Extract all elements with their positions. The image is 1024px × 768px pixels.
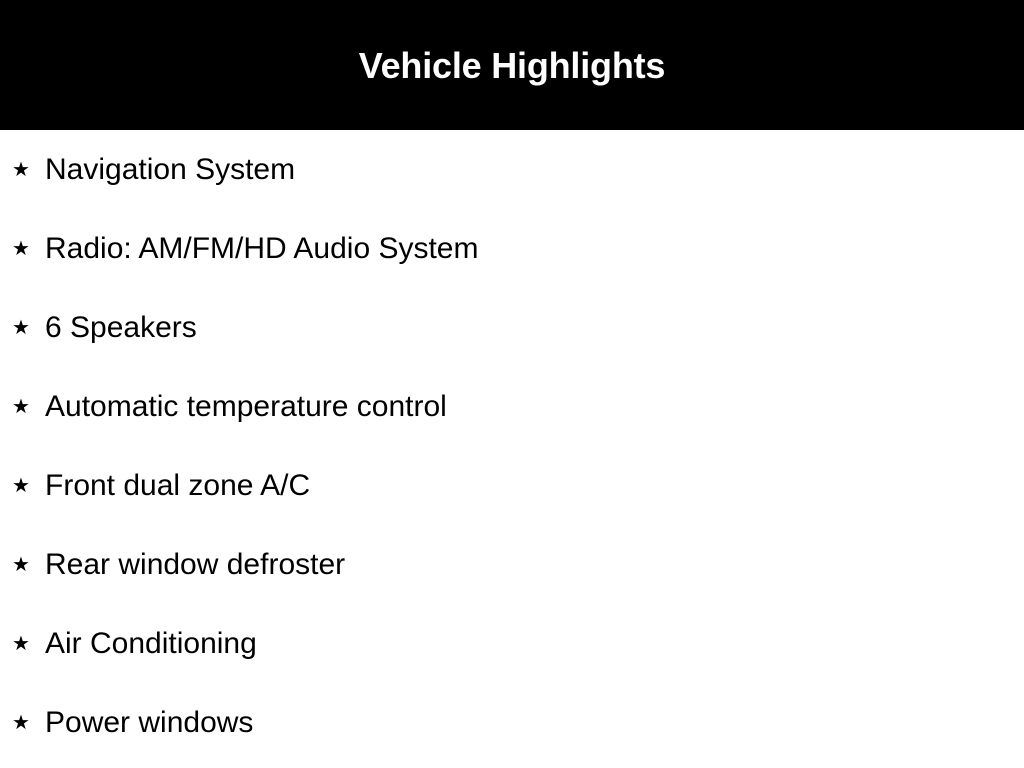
- list-item: ★ 6 Speakers: [0, 288, 1024, 367]
- vehicle-highlights-page: Vehicle Highlights ★ Navigation System ★…: [0, 0, 1024, 768]
- page-title: Vehicle Highlights: [359, 48, 665, 84]
- list-item: ★ Power windows: [0, 683, 1024, 762]
- highlight-label: 6 Speakers: [45, 313, 197, 343]
- vehicle-highlights-list: ★ Navigation System ★ Radio: AM/FM/HD Au…: [0, 130, 1024, 762]
- page-header: Vehicle Highlights: [0, 0, 1024, 130]
- highlight-label: Power windows: [45, 708, 253, 738]
- list-item: ★ Air Conditioning: [0, 604, 1024, 683]
- star-icon: ★: [12, 633, 29, 653]
- highlight-label: Air Conditioning: [45, 629, 257, 659]
- list-item: ★ Automatic temperature control: [0, 367, 1024, 446]
- star-icon: ★: [12, 712, 29, 732]
- highlight-label: Automatic temperature control: [45, 392, 447, 422]
- highlight-label: Radio: AM/FM/HD Audio System: [45, 234, 478, 264]
- highlight-label: Rear window defroster: [45, 550, 345, 580]
- list-item: ★ Front dual zone A/C: [0, 446, 1024, 525]
- star-icon: ★: [12, 159, 29, 179]
- list-item: ★ Navigation System: [0, 130, 1024, 209]
- star-icon: ★: [12, 238, 29, 258]
- star-icon: ★: [12, 554, 29, 574]
- highlight-label: Navigation System: [45, 155, 295, 185]
- star-icon: ★: [12, 475, 29, 495]
- star-icon: ★: [12, 396, 29, 416]
- list-item: ★ Rear window defroster: [0, 525, 1024, 604]
- list-item: ★ Radio: AM/FM/HD Audio System: [0, 209, 1024, 288]
- highlight-label: Front dual zone A/C: [45, 471, 310, 501]
- star-icon: ★: [12, 317, 29, 337]
